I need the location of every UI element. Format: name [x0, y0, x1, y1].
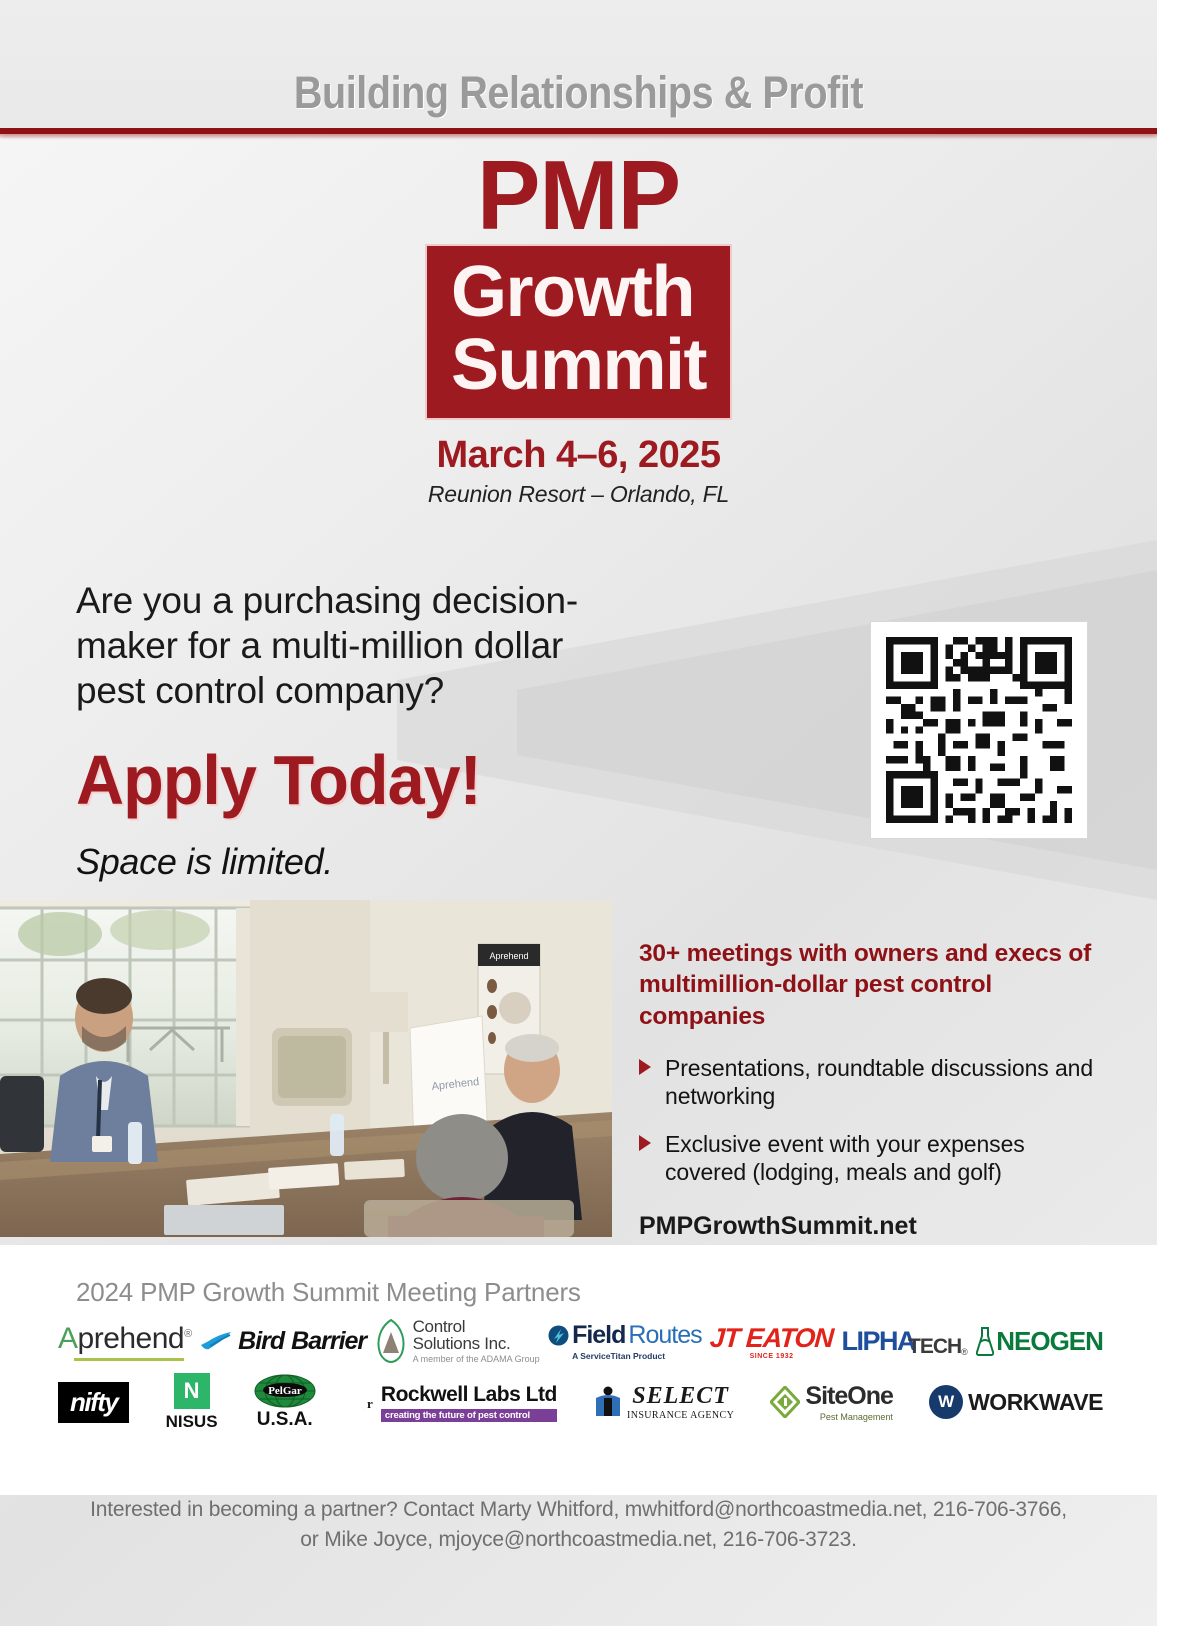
- qr-code-icon: [871, 622, 1087, 838]
- select-subtitle: INSURANCE AGENCY: [627, 1410, 734, 1421]
- hero-cta: Apply Today!: [76, 745, 608, 815]
- header-tagline: Building Relationships & Profit: [69, 70, 1087, 115]
- partner-logo-rockwell-labs[interactable]: r Rockwell Labs Ltd creating the future …: [352, 1373, 557, 1431]
- partner-logo-workwave[interactable]: W WORKWAVE: [929, 1373, 1103, 1431]
- nisus-mark-letter: N: [184, 1378, 200, 1404]
- triangle-bullet-icon: [639, 1135, 651, 1151]
- header-band: Building Relationships & Profit: [0, 0, 1157, 133]
- partner-logo-control-solutions[interactable]: Control Solutions Inc. A member of the A…: [375, 1315, 540, 1367]
- workwave-wordmark: WORKWAVE: [968, 1389, 1103, 1416]
- partner-logo-jt-eaton[interactable]: JT EATON SINCE 1932: [710, 1315, 833, 1367]
- liphatech-word2: TECH: [908, 1335, 961, 1359]
- siteone-wordmark: SiteOne: [805, 1382, 892, 1411]
- rockwell-wordmark: Rockwell Labs Ltd: [381, 1383, 557, 1407]
- triangle-bullet-icon: [639, 1059, 651, 1075]
- flask-icon: [976, 1326, 994, 1356]
- event-venue: Reunion Resort – Orlando, FL: [0, 481, 1157, 508]
- neogen-wordmark: NEOGEN: [996, 1326, 1103, 1357]
- fieldroutes-word2: Routes: [628, 1321, 701, 1350]
- list-item-label: Exclusive event with your expenses cover…: [665, 1131, 1025, 1185]
- partner-logo-bird-barrier[interactable]: BirdBarrier: [200, 1315, 366, 1367]
- event-date: March 4–6, 2025: [0, 434, 1157, 477]
- logo-brand-pmp: PMP: [17, 150, 1139, 240]
- info-panel: 30+ meetings with owners and execs of mu…: [639, 938, 1109, 1241]
- partner-logo-row-1: Aprehend® BirdBarrier: [58, 1315, 1103, 1367]
- event-photo: Aprehend Aprehend: [0, 900, 612, 1237]
- aprehend-reg: ®: [184, 1328, 192, 1340]
- workwave-mark-icon: W: [929, 1385, 963, 1419]
- liphatech-reg: ®: [961, 1347, 968, 1357]
- nifty-wordmark: nifty: [70, 1387, 117, 1417]
- footer-line-1: Interested in becoming a partner? Contac…: [0, 1495, 1157, 1525]
- svg-text:Aprehend: Aprehend: [489, 951, 528, 961]
- aprehend-rest: prehend: [78, 1322, 185, 1355]
- partner-logo-aprehend[interactable]: Aprehend®: [58, 1315, 192, 1367]
- pelgar-usa: U.S.A.: [257, 1409, 313, 1431]
- partner-logo-nifty[interactable]: nifty: [58, 1373, 129, 1431]
- shield-icon: [375, 1319, 407, 1363]
- info-bullet-list: Presentations, roundtable discussions an…: [639, 1054, 1109, 1186]
- partner-logo-siteone[interactable]: SiteOne Pest Management: [770, 1373, 892, 1431]
- partner-logo-select-insurance[interactable]: SELECT INSURANCE AGENCY: [593, 1373, 734, 1431]
- partner-logo-neogen[interactable]: NEOGEN: [976, 1315, 1103, 1367]
- siteone-mark-icon: [770, 1386, 800, 1418]
- partner-logo-row-2: nifty N NISUS PelG: [58, 1373, 1103, 1431]
- fieldroutes-mark-icon: [548, 1325, 569, 1346]
- qr-code[interactable]: [871, 622, 1087, 838]
- list-item: Presentations, roundtable discussions an…: [639, 1054, 1109, 1110]
- logo-red-box: Growth Summit: [425, 244, 732, 420]
- csi-subtitle: A member of the ADAMA Group: [413, 1354, 540, 1364]
- nisus-wordmark: NISUS: [166, 1412, 218, 1432]
- partner-logo-fieldroutes[interactable]: FieldRoutes A ServiceTitan Product: [548, 1315, 702, 1367]
- fieldroutes-word1: Field: [572, 1321, 625, 1350]
- svg-text:r: r: [367, 1396, 373, 1411]
- partners-section: 2024 PMP Growth Summit Meeting Partners …: [0, 1245, 1157, 1495]
- aprehend-a: A: [58, 1322, 78, 1355]
- footer-line-2: or Mike Joyce, mjoyce@northcoastmedia.ne…: [0, 1525, 1157, 1555]
- event-photo-illustration: Aprehend Aprehend: [0, 900, 612, 1237]
- flyer-page: Building Relationships & Profit PMP Grow…: [0, 0, 1157, 1626]
- website-url[interactable]: PMPGrowthSummit.net: [639, 1212, 1109, 1241]
- csi-line1: Control: [413, 1318, 540, 1335]
- globe-icon: PelGar: [254, 1374, 316, 1408]
- aprehend-underline: [74, 1358, 184, 1361]
- partner-logo-nisus[interactable]: N NISUS: [166, 1373, 218, 1431]
- rockwell-tagline: creating the future of pest control: [381, 1409, 557, 1422]
- siteone-subtitle: Pest Management: [805, 1412, 892, 1422]
- partner-logo-pelgar[interactable]: PelGar U.S.A.: [254, 1373, 316, 1431]
- list-item-label: Presentations, roundtable discussions an…: [665, 1055, 1093, 1109]
- bird-barrier-word2: Barrier: [291, 1327, 366, 1356]
- jt-eaton-wordmark: JT EATON: [709, 1323, 834, 1354]
- fieldroutes-subtitle: A ServiceTitan Product: [572, 1351, 665, 1361]
- bird-barrier-word1: Bird: [238, 1327, 284, 1356]
- hero-subnote: Space is limited.: [76, 841, 636, 883]
- liphatech-word1: LIPHA: [842, 1326, 916, 1357]
- partner-logo-liphatech[interactable]: LIPHA TECH ®: [842, 1315, 968, 1367]
- event-logo: PMP Growth Summit March 4–6, 2025 Reunio…: [0, 150, 1157, 508]
- svg-text:PelGar: PelGar: [268, 1385, 302, 1397]
- bird-icon: [200, 1331, 234, 1351]
- select-mark-icon: [593, 1386, 623, 1418]
- logo-line-summit: Summit: [451, 331, 706, 400]
- workwave-mark-letter: W: [938, 1392, 954, 1412]
- select-wordmark: SELECT: [632, 1383, 729, 1410]
- partners-title: 2024 PMP Growth Summit Meeting Partners: [76, 1277, 581, 1308]
- logo-line-growth: Growth: [451, 258, 706, 327]
- info-lead: 30+ meetings with owners and execs of mu…: [639, 938, 1109, 1032]
- hero-question: Are you a purchasing decision-maker for …: [76, 578, 636, 713]
- rockwell-mark-icon: r: [352, 1385, 378, 1419]
- header-divider: [0, 128, 1157, 134]
- csi-line2: Solutions Inc.: [413, 1335, 540, 1352]
- footer-contact: Interested in becoming a partner? Contac…: [0, 1495, 1157, 1556]
- hero-copy: Are you a purchasing decision-maker for …: [76, 578, 636, 883]
- nisus-mark-icon: N: [174, 1373, 210, 1409]
- list-item: Exclusive event with your expenses cover…: [639, 1130, 1109, 1186]
